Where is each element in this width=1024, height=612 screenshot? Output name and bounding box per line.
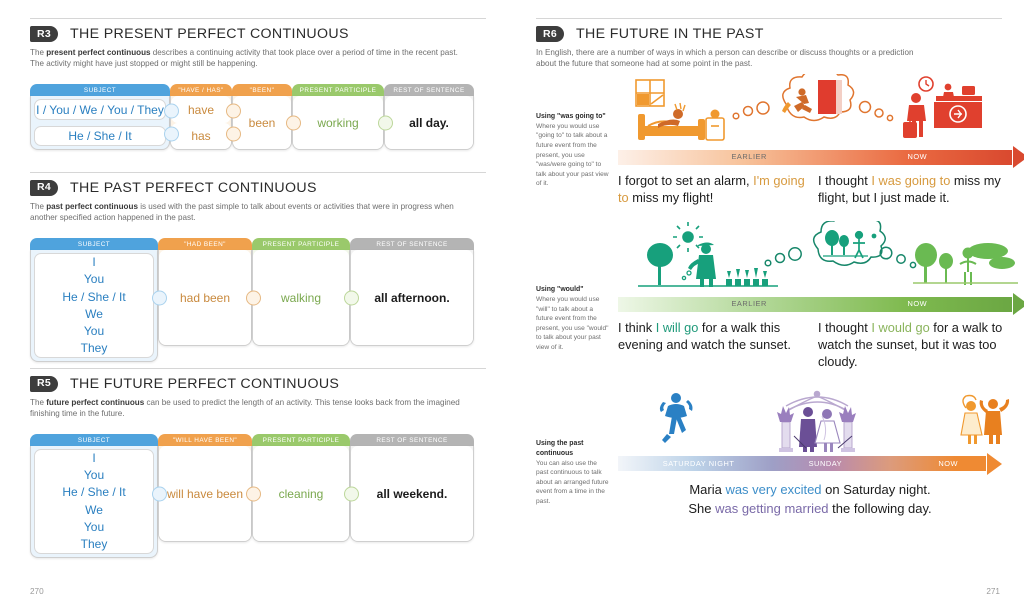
puzzle-body-present-participle: walking (252, 250, 350, 346)
example-pre: Maria (689, 482, 725, 497)
section-tag-r6: R6 (536, 26, 564, 42)
traveler-with-suitcase-icon (903, 93, 926, 138)
bride-icon (815, 409, 840, 452)
puzzle-knob-icon (344, 486, 359, 501)
example-pre: I thought (818, 173, 871, 188)
desc-bold: past perfect continuous (46, 202, 138, 211)
timeline-block-was-going-to: Using "was going to" Where you would use… (536, 74, 1002, 207)
sidenote-text: Where you would use "will" to talk about… (536, 296, 609, 351)
puzzle-header-rest-of-sentence: REST OF SENTENCE (350, 434, 474, 447)
puzzle-cell: has (171, 123, 231, 149)
illustration-past-continuous (618, 386, 1018, 456)
puzzle-header-will-have-been: "WILL HAVE BEEN" (158, 434, 252, 447)
puzzle-header-have-has: "HAVE / HAS" (170, 84, 232, 97)
example-post: the following day. (829, 501, 932, 516)
section-header-r6: R6 THE FUTURE IN THE PAST (536, 18, 1002, 42)
puzzle-column-subject: SUBJECT I / You / We / You / They He / S… (30, 84, 170, 150)
subject-item: They (62, 536, 125, 553)
timeline-block-would: Using "would" Where you would use "will"… (536, 221, 1002, 371)
puzzle-column-subject: SUBJECT I You He / She / It We You They (30, 238, 158, 346)
window-icon (636, 80, 664, 106)
example-row: I forgot to set an alarm, I'm going to m… (618, 173, 1024, 207)
subject-item: He / She / It (62, 484, 125, 501)
section-r5: R5 THE FUTURE PERFECT CONTINUOUS The fut… (30, 368, 486, 542)
puzzle-header-present-participle: PRESENT PARTICIPLE (292, 84, 384, 97)
section-header-r5: R5 THE FUTURE PERFECT CONTINUOUS (30, 368, 486, 392)
book-spread: R3 THE PRESENT PERFECT CONTINUOUS The pr… (0, 0, 1024, 612)
example-highlight: I was going to (871, 173, 950, 188)
puzzle-cell: all afternoon. (351, 250, 473, 345)
timeline-block-past-continuous: Using the past continuous You can also u… (536, 386, 1002, 518)
bush-icon (968, 243, 1015, 269)
timeline-arrow-labels: SATURDAY NIGHT SUNDAY NOW (618, 456, 1002, 471)
puzzle-header-been: "BEEN" (232, 84, 292, 97)
timeline-label: NOW (938, 459, 958, 468)
running-person-icon (782, 88, 812, 113)
puzzle-cell: He / She / It (34, 126, 166, 146)
puzzle-knob-icon (246, 486, 261, 501)
timeline-arrow: EARLIER NOW (618, 150, 1024, 165)
subject-item: He / She / It (62, 289, 125, 306)
timeline-arrow: SATURDAY NIGHT SUNDAY NOW (618, 456, 1002, 471)
sun-icon (872, 233, 877, 238)
example-sentence-centered: Maria was very excited on Saturday night… (618, 481, 1002, 518)
puzzle-knob-icon (226, 127, 241, 142)
puzzle-knob-icon (226, 104, 241, 119)
timeline-label: EARLIER (731, 152, 766, 161)
bed-icon (638, 114, 705, 140)
example-post: miss my flight! (629, 190, 714, 205)
example-post: on Saturday night. (822, 482, 931, 497)
subject-item: I (62, 450, 125, 467)
timeline-sidenote: Using "was going to" Where you would use… (536, 112, 618, 207)
section-title-r6: THE FUTURE IN THE PAST (576, 26, 764, 42)
subject-item: You (62, 271, 125, 288)
puzzle-body-rest-of-sentence: all afternoon. (350, 250, 474, 346)
section-tag-r4: R4 (30, 180, 58, 196)
sidenote-title: Using "would" (536, 285, 610, 295)
puzzle-header-present-participle: PRESENT PARTICIPLE (252, 434, 350, 447)
example-sentence: I thought I was going to miss my flight,… (818, 173, 1024, 207)
timeline-label: SUNDAY (809, 459, 843, 468)
puzzle-body-subject: I / You / We / You / They He / She / It (30, 96, 170, 150)
page-number-left: 270 (30, 587, 44, 596)
puzzle-header-subject: SUBJECT (30, 238, 158, 251)
illustration-would (618, 221, 1018, 297)
subject-item: You (62, 323, 125, 340)
sun-icon (673, 222, 703, 252)
desc-lead: The (30, 202, 46, 211)
puzzle-cell: I / You / We / You / They (34, 99, 166, 119)
section-header-r3: R3 THE PRESENT PERFECT CONTINUOUS (30, 18, 486, 42)
example-line-1: Maria was very excited on Saturday night… (618, 481, 1002, 499)
subject-item: We (62, 502, 125, 519)
timeline-label: SATURDAY NIGHT (663, 459, 735, 468)
puzzle-column-present-participle: PRESENT PARTICIPLE walking (252, 238, 350, 346)
sidenote-title: Using the past continuous (536, 439, 610, 459)
puzzle-table-r4: SUBJECT I You He / She / It We You They (30, 238, 486, 346)
subject-item: I (62, 254, 125, 271)
subject-item: We (62, 306, 125, 323)
subject-item: You (62, 519, 125, 536)
illustration-row (618, 386, 1002, 456)
section-desc-r3: The present perfect continuous describes… (30, 47, 460, 70)
section-r4: R4 THE PAST PERFECT CONTINUOUS The past … (30, 172, 486, 346)
puzzle-cell: cleaning (253, 446, 349, 541)
desc-lead: The (30, 398, 46, 407)
example-sentence: I think I will go for a walk this evenin… (618, 320, 818, 371)
puzzle-table-r5: SUBJECT I You He / She / It We You They (30, 434, 486, 542)
section-title-r5: THE FUTURE PERFECT CONTINUOUS (70, 376, 339, 392)
puzzle-body-present-participle: working (292, 96, 384, 150)
timeline-main: SATURDAY NIGHT SUNDAY NOW Maria was very… (618, 386, 1002, 518)
timeline-main: EARLIER NOW I think I will go for a walk… (618, 221, 1024, 371)
puzzle-column-rest-of-sentence: REST OF SENTENCE all weekend. (350, 434, 474, 542)
puzzle-header-rest-of-sentence: REST OF SENTENCE (350, 238, 474, 251)
puzzle-column-will-have-been: "WILL HAVE BEEN" will have been (158, 434, 252, 542)
puzzle-column-rest-of-sentence: REST OF SENTENCE all afternoon. (350, 238, 474, 346)
sidenote-title: Using "was going to" (536, 112, 610, 122)
section-title-r3: THE PRESENT PERFECT CONTINUOUS (70, 26, 349, 42)
timeline-arrow-labels: EARLIER NOW (618, 297, 1024, 312)
section-tag-r3: R3 (30, 26, 58, 42)
left-page: R3 THE PRESENT PERFECT CONTINUOUS The pr… (0, 0, 512, 612)
example-pre: I forgot to set an alarm, (618, 173, 753, 188)
puzzle-knob-icon (152, 486, 167, 501)
puzzle-knob-icon (246, 290, 261, 305)
puzzle-column-subject: SUBJECT I You He / She / It We You They (30, 434, 158, 542)
puzzle-column-rest-of-sentence: REST OF SENTENCE all day. (384, 84, 474, 150)
puzzle-column-present-participle: PRESENT PARTICIPLE working (292, 84, 384, 150)
desc-bold: present perfect continuous (46, 48, 150, 57)
puzzle-knob-icon (344, 290, 359, 305)
sidenote-text: Where you would use "going to" to talk a… (536, 123, 609, 187)
puzzle-body-had-been: had been (158, 250, 252, 346)
section-desc-r6: In English, there are a number of ways i… (536, 47, 916, 70)
puzzle-cell: walking (253, 250, 349, 345)
illustration-row (618, 74, 1024, 150)
puzzle-column-present-participle: PRESENT PARTICIPLE cleaning (252, 434, 350, 542)
timeline-label: NOW (907, 299, 927, 308)
section-r3: R3 THE PRESENT PERFECT CONTINUOUS The pr… (30, 18, 486, 150)
example-pre: I thought (818, 320, 871, 335)
example-line-2: She was getting married the following da… (618, 500, 1002, 518)
puzzle-header-subject: SUBJECT (30, 84, 170, 97)
sidenote-text: You can also use the past continuous to … (536, 460, 609, 505)
gardener-icon (688, 242, 716, 287)
puzzle-header-present-participle: PRESENT PARTICIPLE (252, 238, 350, 251)
subject-item: They (62, 340, 125, 357)
puzzle-column-had-been: "HAD BEEN" had been (158, 238, 252, 346)
subject-item: You (62, 467, 125, 484)
timeline-label: EARLIER (731, 299, 766, 308)
timeline-sidenote: Using the past continuous You can also u… (536, 439, 618, 519)
puzzle-column-have-has: "HAVE / HAS" have has (170, 84, 232, 150)
section-header-r4: R4 THE PAST PERFECT CONTINUOUS (30, 172, 486, 196)
puzzle-cell: will have been (159, 446, 251, 541)
tree-icon (915, 243, 953, 283)
puzzle-body-present-participle: cleaning (252, 446, 350, 542)
example-pre: I think (618, 320, 656, 335)
right-page: R6 THE FUTURE IN THE PAST In English, th… (512, 0, 1024, 612)
puzzle-column-been: "BEEN" been (232, 84, 292, 150)
example-highlight: was getting married (715, 501, 828, 516)
puzzle-cell: all weekend. (351, 446, 473, 541)
puzzle-body-subject: I You He / She / It We You They (30, 250, 158, 361)
puzzle-body-rest-of-sentence: all day. (384, 96, 474, 150)
thought-bubble-icon (733, 74, 892, 121)
section-tag-r5: R5 (30, 376, 58, 392)
puzzle-body-subject: I You He / She / It We You They (30, 446, 158, 557)
puzzle-knob-icon (152, 290, 167, 305)
walking-person-icon (853, 231, 865, 257)
puzzle-knob-icon (164, 104, 179, 119)
tree-icon (647, 243, 673, 285)
puzzle-body-rest-of-sentence: all weekend. (350, 446, 474, 542)
puzzle-cell-subject-stack: I You He / She / It We You They (34, 253, 154, 357)
puzzle-knob-icon (286, 115, 301, 130)
timeline-arrow: EARLIER NOW (618, 297, 1024, 312)
example-pre: She (688, 501, 715, 516)
timeline-label: NOW (907, 152, 927, 161)
desc-lead: The (30, 48, 46, 57)
timeline-arrow-labels: EARLIER NOW (618, 150, 1024, 165)
puzzle-body-will-have-been: will have been (158, 446, 252, 542)
puzzle-knob-icon (378, 115, 393, 130)
door-icon (818, 80, 842, 114)
puzzle-body-been: been (232, 96, 292, 150)
example-row: I think I will go for a walk this evenin… (618, 320, 1024, 371)
example-highlight: was very excited (725, 482, 821, 497)
page-number-right: 271 (986, 587, 1000, 596)
puzzle-cell: been (233, 96, 291, 149)
example-highlight: I would go (871, 320, 929, 335)
puzzle-table-r3: SUBJECT I / You / We / You / They He / S… (30, 84, 486, 150)
puzzle-cell-subject-stack: I You He / She / It We You They (34, 449, 154, 553)
groom-icon (799, 407, 817, 452)
puzzle-cell: had been (159, 250, 251, 345)
illustration-row (618, 221, 1024, 297)
section-title-r4: THE PAST PERFECT CONTINUOUS (70, 180, 317, 196)
example-sentence: I thought I would go for a walk to watch… (818, 320, 1024, 371)
section-desc-r4: The past perfect continuous is used with… (30, 201, 460, 224)
dancing-woman-icon (660, 393, 693, 443)
timeline-sidenote: Using "would" Where you would use "will"… (536, 285, 618, 370)
example-sentence: I forgot to set an alarm, I'm going to m… (618, 173, 818, 207)
bride-and-groom-icon (961, 396, 1009, 445)
section-desc-r5: The future perfect continuous can be use… (30, 397, 460, 420)
example-highlight: I will go (656, 320, 699, 335)
alarm-clock-icon (706, 109, 724, 140)
puzzle-header-subject: SUBJECT (30, 434, 158, 447)
puzzle-cell: all day. (385, 96, 473, 149)
puzzle-header-had-been: "HAD BEEN" (158, 238, 252, 251)
puzzle-cell: working (293, 96, 383, 149)
puzzle-header-rest-of-sentence: REST OF SENTENCE (384, 84, 474, 97)
flower-bed-icon (726, 268, 768, 286)
tree-icon (825, 230, 849, 255)
wedding-couple-icon (777, 392, 856, 453)
airport-check-in-desk-icon (919, 77, 982, 128)
timeline-main: EARLIER NOW I forgot to set an alarm, I'… (618, 74, 1024, 207)
watering-icon (682, 271, 691, 280)
puzzle-cell: have (171, 96, 231, 122)
desc-bold: future perfect continuous (46, 398, 144, 407)
puzzle-body-have-has: have has (170, 96, 232, 150)
illustration-was-going-to (618, 74, 1018, 150)
puzzle-knob-icon (164, 127, 179, 142)
pillar-icon (777, 406, 794, 452)
